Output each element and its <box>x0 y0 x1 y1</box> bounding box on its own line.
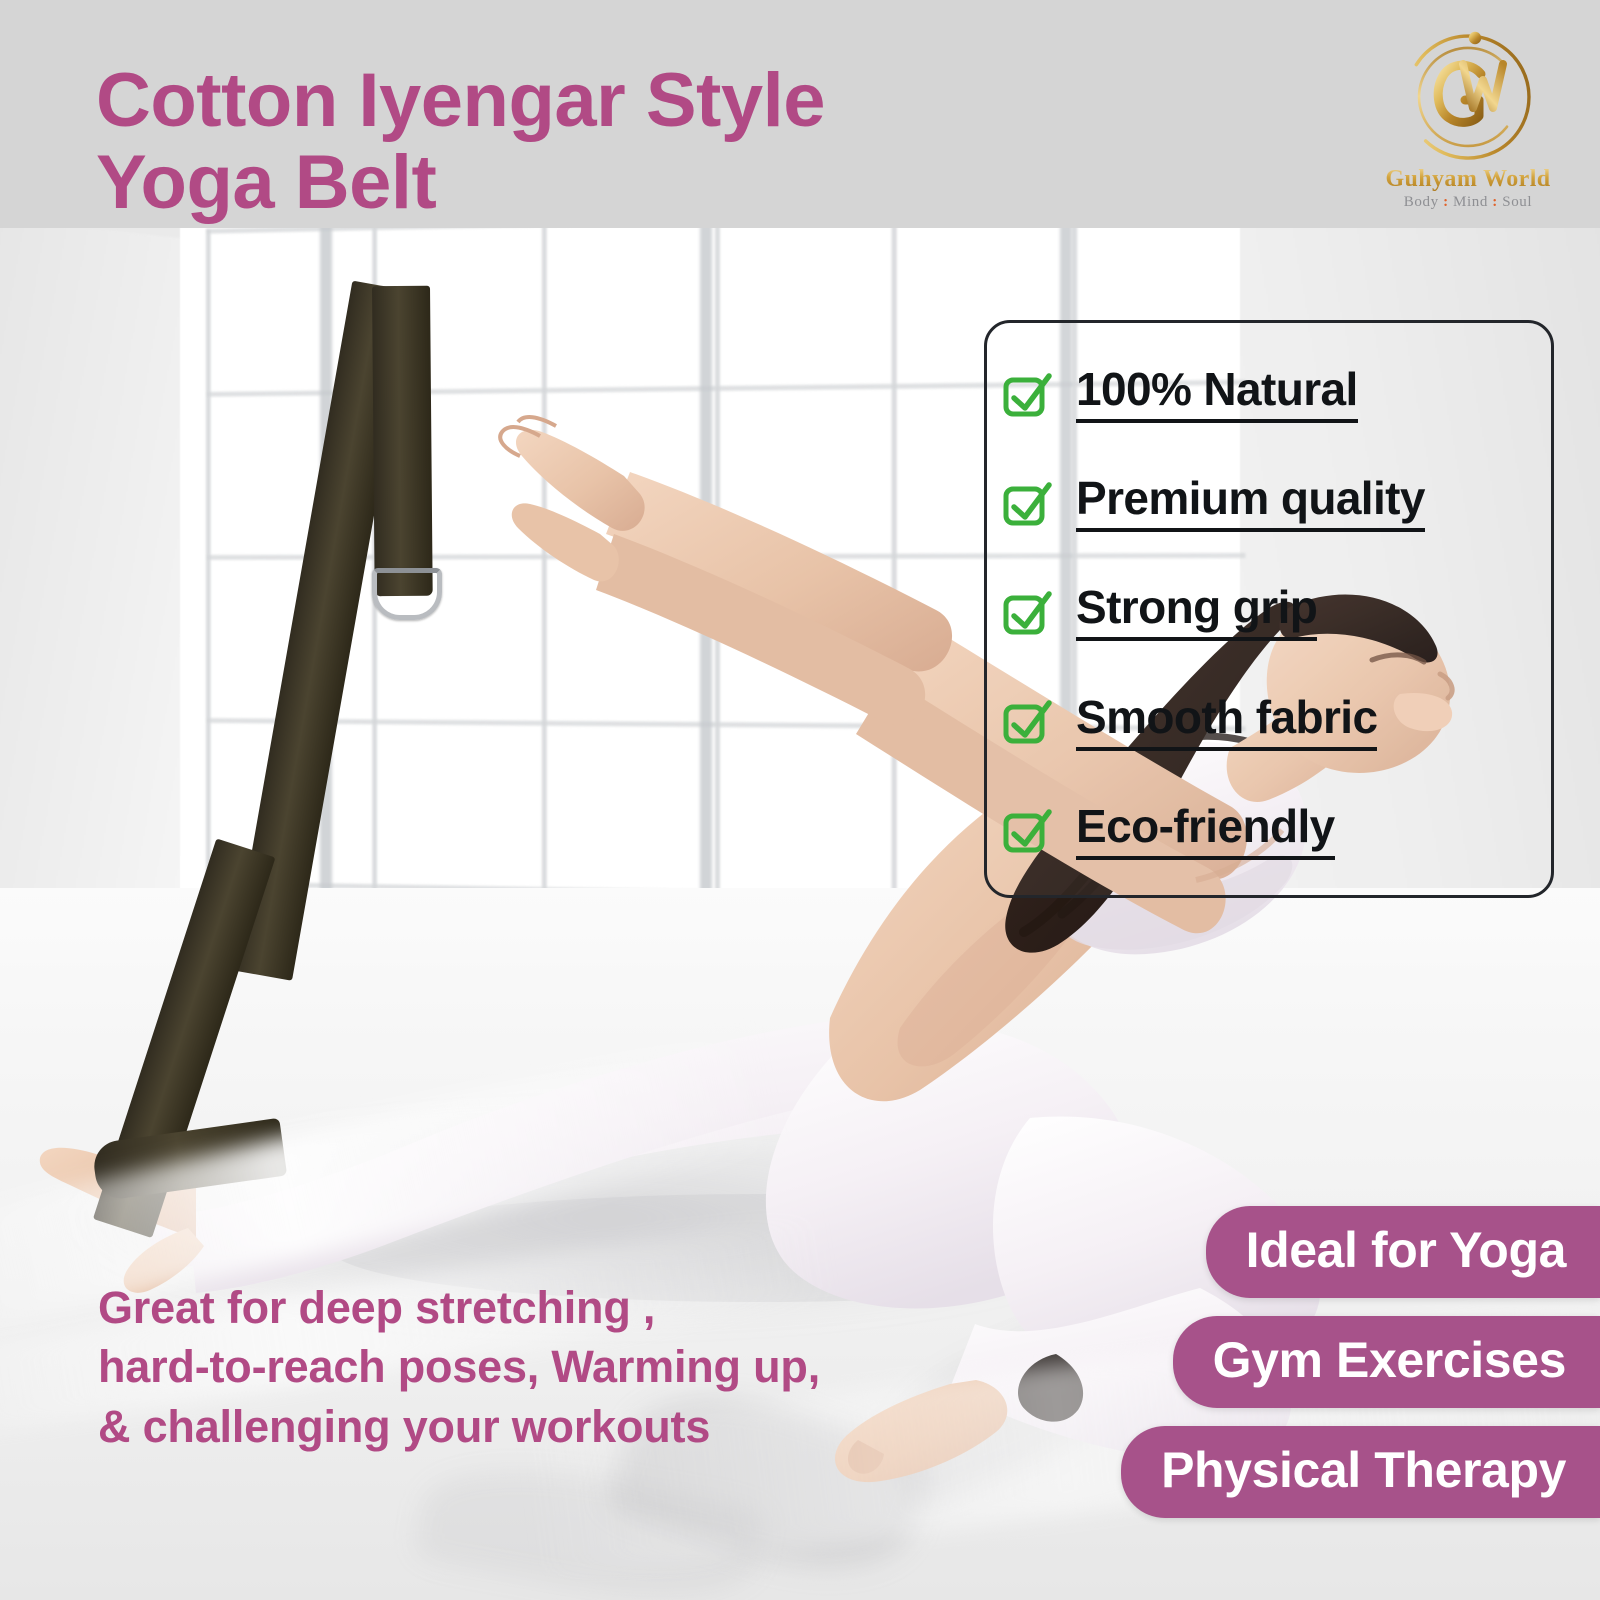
tagline-separator: : <box>1492 194 1498 210</box>
strap-d-ring-buckle <box>372 568 442 620</box>
product-poster: Cotton Iyengar Style Yoga Belt <box>0 0 1600 1600</box>
tagline-word: Mind <box>1453 194 1488 210</box>
feature-label: 100% Natural <box>1076 366 1358 423</box>
use-case-badge: Gym Exercises <box>1173 1316 1600 1408</box>
yoga-strap-tail <box>372 286 433 596</box>
tagline-word: Body <box>1404 194 1439 210</box>
use-case-badge: Physical Therapy <box>1121 1426 1600 1518</box>
feature-label: Strong grip <box>1076 584 1317 641</box>
feature-item: Smooth fabric <box>1002 686 1600 758</box>
tagline-word: Soul <box>1502 194 1532 210</box>
description-text: Great for deep stretching , hard-to-reac… <box>98 1278 998 1456</box>
brand-logo: Guhyam World Body : Mind : Soul <box>1358 22 1578 227</box>
page-title: Cotton Iyengar Style Yoga Belt <box>96 60 996 224</box>
feature-label: Smooth fabric <box>1076 694 1377 751</box>
use-case-badges: Ideal for Yoga Gym Exercises Physical Th… <box>980 1206 1600 1518</box>
feature-item: Premium quality <box>1002 468 1600 540</box>
feature-item: 100% Natural <box>1002 359 1600 431</box>
checkbox-checked-icon <box>1002 370 1052 420</box>
logo-monogram-icon <box>1393 22 1543 172</box>
feature-label: Eco-friendly <box>1076 803 1335 860</box>
feature-item: Eco-friendly <box>1002 795 1600 867</box>
checkbox-checked-icon <box>1002 697 1052 747</box>
use-case-badge: Ideal for Yoga <box>1206 1206 1600 1298</box>
checkbox-checked-icon <box>1002 479 1052 529</box>
tagline-separator: : <box>1443 194 1449 210</box>
feature-item: Strong grip <box>1002 577 1600 649</box>
feature-label: Premium quality <box>1076 475 1425 532</box>
checkbox-checked-icon <box>1002 588 1052 638</box>
feature-list: 100% Natural Premium quality Strong grip <box>1002 326 1600 896</box>
checkbox-checked-icon <box>1002 806 1052 856</box>
brand-tagline: Body : Mind : Soul <box>1358 194 1578 211</box>
